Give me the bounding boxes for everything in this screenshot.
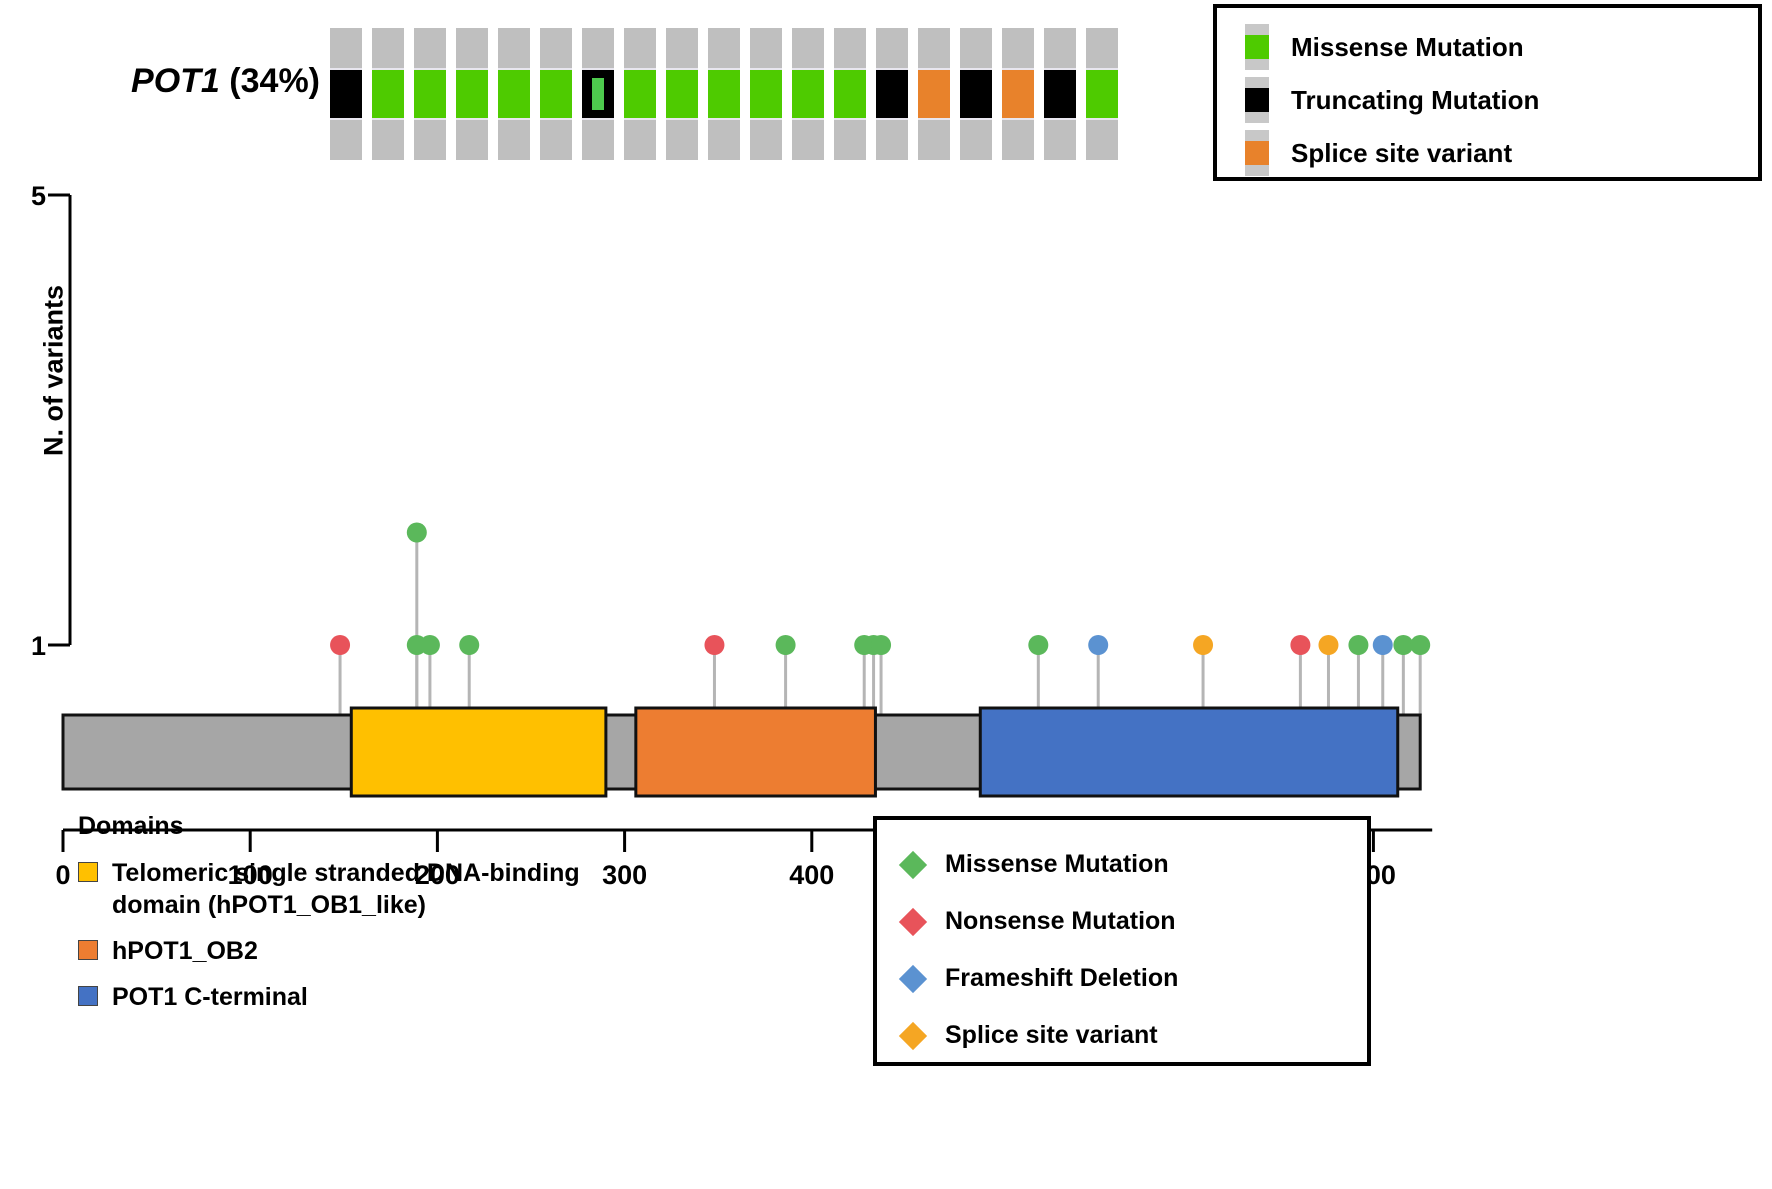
oncoprint-background-bottom	[1044, 118, 1076, 160]
legend-diamond-icon	[899, 964, 927, 992]
oncoprint-column[interactable]	[1044, 28, 1076, 160]
protein-domain[interactable]	[980, 708, 1397, 796]
oncoprint-background-bottom	[582, 118, 614, 160]
oncoprint-background-bottom	[540, 118, 572, 160]
lollipop-head-nonsense-mutation[interactable]: Nonsense Mutation @ 661 (n=1)	[1290, 635, 1310, 655]
oncoprint-inner-alteration	[592, 78, 604, 110]
oncoprint-background-bottom	[666, 118, 698, 160]
lollipop-head-missense-mutation[interactable]: Missense Mutation @ 196 (n=1)	[420, 635, 440, 655]
oncoprint-column[interactable]	[330, 28, 362, 160]
oncoprint-gene-label: POT1 (34%)	[60, 62, 320, 101]
oncoprint-alteration-missense-mutation[interactable]	[666, 70, 698, 118]
oncoprint-alteration-missense-mutation[interactable]	[708, 70, 740, 118]
oncoprint-background-top	[456, 28, 488, 70]
oncoprint-background-bottom	[960, 118, 992, 160]
oncoprint-background-bottom	[834, 118, 866, 160]
y-tick-label-1: 1	[2, 631, 46, 662]
oncoprint-column[interactable]	[414, 28, 446, 160]
legend-item: Missense Mutation	[903, 836, 1367, 893]
legend-swatch-color	[1245, 88, 1269, 112]
lollipop-head-missense-mutation[interactable]: Missense Mutation @ 189 (n=2)	[407, 523, 427, 543]
lollipop-head-missense-mutation[interactable]: Missense Mutation @ 521 (n=1)	[1028, 635, 1048, 655]
legend-item: Splice site variant	[1245, 128, 1758, 178]
domain-key-swatch-icon	[78, 986, 98, 1006]
legend-swatch-icon	[1245, 130, 1269, 176]
oncoprint-background-bottom	[498, 118, 530, 160]
oncoprint-alteration-missense-mutation[interactable]	[414, 70, 446, 118]
oncoprint-column[interactable]	[372, 28, 404, 160]
oncoprint-column[interactable]	[750, 28, 782, 160]
domain-key-item: Telomeric single stranded DNA-binding do…	[78, 857, 638, 921]
legend-item: Frameshift Deletion	[903, 950, 1367, 1007]
lollipop-head-missense-mutation[interactable]: Missense Mutation @ 433 (n=1)	[864, 635, 884, 655]
mutation-type-legend: Missense MutationNonsense MutationFrames…	[873, 816, 1371, 1066]
gene-name: POT1	[131, 62, 220, 100]
y-tick-label-5: 5	[2, 181, 46, 212]
oncoprint-background-top	[330, 28, 362, 70]
oncoprint-background-top	[834, 28, 866, 70]
oncoprint-column[interactable]	[834, 28, 866, 160]
legend-swatch-bottom	[1245, 59, 1269, 70]
oncoprint-legend: Missense MutationTruncating MutationSpli…	[1213, 4, 1762, 181]
oncoprint-background-top	[1044, 28, 1076, 70]
legend-label: Frameshift Deletion	[945, 964, 1178, 993]
oncoprint-background-bottom	[1002, 118, 1034, 160]
x-axis-tick-label: 400	[777, 860, 847, 891]
lollipop-head-frameshift-deletion[interactable]: Frameshift Deletion @ 553 (n=1)	[1088, 635, 1108, 655]
oncoprint-background-bottom	[792, 118, 824, 160]
oncoprint-column[interactable]	[456, 28, 488, 160]
oncoprint-alteration-splice-site-variant[interactable]	[918, 70, 950, 118]
legend-item: Truncating Mutation	[1245, 75, 1758, 125]
oncoprint-background-bottom	[456, 118, 488, 160]
oncoprint-alteration-missense-mutation[interactable]	[498, 70, 530, 118]
legend-swatch-icon	[1245, 77, 1269, 123]
oncoprint-column[interactable]	[960, 28, 992, 160]
domain-key-item: POT1 C-terminal	[78, 981, 638, 1013]
legend-label: Missense Mutation	[945, 850, 1169, 879]
oncoprint-background-top	[1002, 28, 1034, 70]
oncoprint-alteration-missense-mutation[interactable]	[792, 70, 824, 118]
oncoprint-column[interactable]	[918, 28, 950, 160]
oncoprint-background-top	[414, 28, 446, 70]
oncoprint-background-top	[498, 28, 530, 70]
lollipop-head-missense-mutation[interactable]: Missense Mutation @ 725 (n=1)	[1410, 635, 1430, 655]
oncoprint-alteration-truncating-mutation[interactable]	[876, 70, 908, 118]
lollipop-head-frameshift-deletion[interactable]: Frameshift Deletion @ 705 (n=1)	[1373, 635, 1393, 655]
oncoprint-background-bottom	[918, 118, 950, 160]
legend-diamond-icon	[899, 1021, 927, 1049]
legend-label: Splice site variant	[1291, 138, 1512, 169]
oncoprint-column[interactable]	[624, 28, 656, 160]
oncoprint-alteration-truncating-mutation[interactable]	[960, 70, 992, 118]
oncoprint-alteration-splice-site-variant[interactable]	[1002, 70, 1034, 118]
oncoprint-column[interactable]	[1086, 28, 1118, 160]
oncoprint-background-top	[750, 28, 782, 70]
oncoprint-alteration-missense-mutation[interactable]	[624, 70, 656, 118]
legend-swatch-color	[1245, 141, 1269, 165]
legend-label: Splice site variant	[945, 1021, 1158, 1050]
legend-diamond-icon	[899, 850, 927, 878]
oncoprint-background-bottom	[876, 118, 908, 160]
oncoprint-column[interactable]	[498, 28, 530, 160]
legend-item: Missense Mutation	[1245, 22, 1758, 72]
legend-label: Truncating Mutation	[1291, 85, 1539, 116]
protein-backbone[interactable]	[63, 715, 1420, 789]
legend-label: Missense Mutation	[1291, 32, 1524, 63]
lollipop-head-missense-mutation[interactable]: Missense Mutation @ 692 (n=1)	[1348, 635, 1368, 655]
oncoprint-background-bottom	[330, 118, 362, 160]
oncoprint-background-top	[960, 28, 992, 70]
domains-key-title: Domains	[78, 812, 638, 841]
oncoprint-background-top	[624, 28, 656, 70]
oncoprint-alteration-truncating-mutation[interactable]	[1044, 70, 1076, 118]
oncoprint-column[interactable]	[876, 28, 908, 160]
oncoprint-background-top	[876, 28, 908, 70]
oncoprint-column[interactable]	[666, 28, 698, 160]
oncoprint-alteration-missense-mutation[interactable]	[834, 70, 866, 118]
lollipop-head-missense-mutation[interactable]: Missense Mutation @ 437 (n=1)	[871, 635, 891, 655]
oncoprint-column[interactable]	[792, 28, 824, 160]
protein-domain[interactable]	[351, 708, 606, 796]
legend-swatch-top	[1245, 24, 1269, 35]
domain-key-item: hPOT1_OB2	[78, 935, 638, 967]
oncoprint-background-top	[918, 28, 950, 70]
domain-key-swatch-icon	[78, 940, 98, 960]
protein-domain[interactable]	[636, 708, 876, 796]
domain-key-label: Telomeric single stranded DNA-binding do…	[112, 857, 638, 921]
oncoprint-background-bottom	[624, 118, 656, 160]
oncoprint-background-bottom	[1086, 118, 1118, 160]
lollipop-head-missense-mutation[interactable]: Missense Mutation @ 716 (n=1)	[1393, 635, 1413, 655]
lollipop-head-splice-site-variant[interactable]: Splice site variant @ 609 (n=1)	[1193, 635, 1213, 655]
lollipop-head-missense-mutation[interactable]: Missense Mutation @ 386 (n=1)	[776, 635, 796, 655]
oncoprint-background-top	[666, 28, 698, 70]
oncoprint-background-top	[582, 28, 614, 70]
legend-swatch-bottom	[1245, 112, 1269, 123]
oncoprint-alteration-truncating-mutation[interactable]	[582, 70, 614, 118]
oncoprint-background-bottom	[708, 118, 740, 160]
oncoprint-background-top	[708, 28, 740, 70]
oncoprint-column[interactable]	[1002, 28, 1034, 160]
domains-key-list: Telomeric single stranded DNA-binding do…	[78, 857, 638, 1013]
oncoprint-alteration-truncating-mutation[interactable]	[330, 70, 362, 118]
legend-diamond-icon	[899, 907, 927, 935]
oncoprint-alteration-missense-mutation[interactable]	[750, 70, 782, 118]
lollipop-head-nonsense-mutation[interactable]: Nonsense Mutation @ 148 (n=1)	[330, 635, 350, 655]
legend-item: Nonsense Mutation	[903, 893, 1367, 950]
oncoprint-alteration-missense-mutation[interactable]	[372, 70, 404, 118]
lollipop-head-splice-site-variant[interactable]: Splice site variant @ 676 (n=1)	[1318, 635, 1338, 655]
oncoprint-background-top	[1086, 28, 1118, 70]
oncoprint-alteration-missense-mutation[interactable]	[540, 70, 572, 118]
domains-key: Domains Telomeric single stranded DNA-bi…	[78, 812, 638, 1027]
oncoprint-column[interactable]	[708, 28, 740, 160]
oncoprint-alteration-missense-mutation[interactable]	[1086, 70, 1118, 118]
oncoprint-column[interactable]	[582, 28, 614, 160]
oncoprint-background-bottom	[750, 118, 782, 160]
legend-swatch-top	[1245, 77, 1269, 88]
oncoprint-background-top	[540, 28, 572, 70]
legend-item: Splice site variant	[903, 1007, 1367, 1064]
lollipop-head-missense-mutation[interactable]: Missense Mutation @ 428 (n=1)	[854, 635, 874, 655]
lollipop-head-missense-mutation[interactable]: Missense Mutation @ 189 (n=1)	[407, 635, 427, 655]
oncoprint-track	[330, 28, 1128, 160]
oncoprint-background-bottom	[414, 118, 446, 160]
oncoprint-background-top	[792, 28, 824, 70]
lollipop-head-missense-mutation[interactable]: Missense Mutation @ 217 (n=1)	[459, 635, 479, 655]
oncoprint-background-top	[372, 28, 404, 70]
oncoprint-background-bottom	[372, 118, 404, 160]
legend-swatch-top	[1245, 130, 1269, 141]
domain-key-label: hPOT1_OB2	[112, 935, 258, 967]
legend-label: Nonsense Mutation	[945, 907, 1176, 936]
lollipop-head-nonsense-mutation[interactable]: Nonsense Mutation @ 348 (n=1)	[704, 635, 724, 655]
gene-frequency: (34%)	[229, 62, 320, 100]
legend-swatch-bottom	[1245, 165, 1269, 176]
legend-swatch-color	[1245, 35, 1269, 59]
legend-swatch-icon	[1245, 24, 1269, 70]
y-axis-title: N. of variants	[39, 221, 70, 521]
domain-key-label: POT1 C-terminal	[112, 981, 308, 1013]
oncoprint-column[interactable]	[540, 28, 572, 160]
oncoprint-alteration-missense-mutation[interactable]	[456, 70, 488, 118]
domain-key-swatch-icon	[78, 862, 98, 882]
